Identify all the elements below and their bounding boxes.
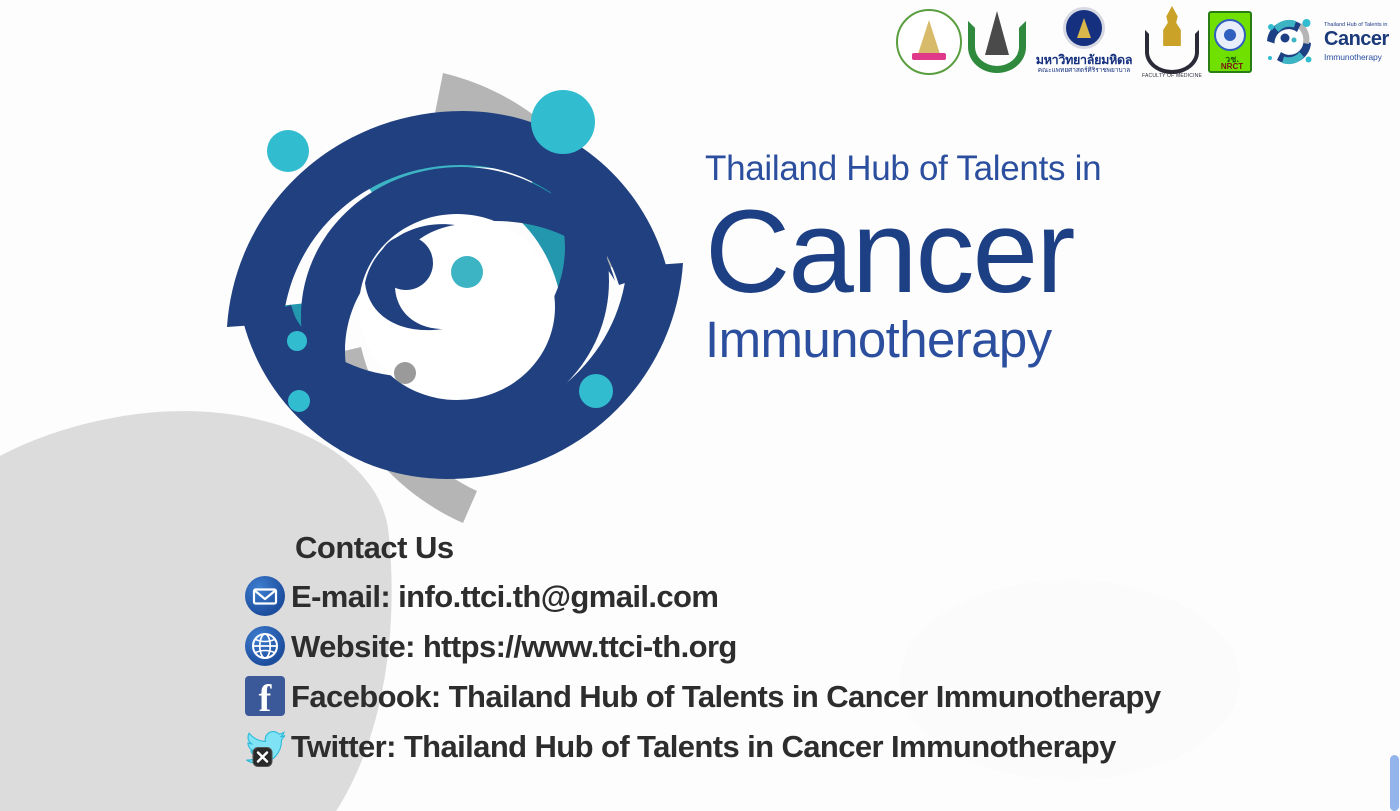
contact-block: Contact Us E-mail: info.ttci.th@gmail.co…	[245, 530, 1161, 772]
facebook-icon: f	[245, 676, 287, 718]
partner-logo-bar: มหาวิทยาลัยมหิดล คณะแพทยศาสตร์ศิริราชพยา…	[896, 4, 1396, 80]
globe-icon	[245, 626, 287, 668]
contact-title: Contact Us	[295, 530, 1161, 566]
logo-word-cancer: Cancer	[705, 193, 1175, 311]
ttci-small-word-main: Cancer	[1324, 29, 1389, 49]
faculty-arc-icon	[1145, 30, 1199, 74]
ttci-swirl-logo	[205, 55, 705, 535]
faculty-of-medicine-logo: FACULTY OF MEDICINE	[1142, 6, 1202, 78]
mahidol-university-logo: มหาวิทยาลัยมหิดล คณะแพทยศาสตร์ศิริราชพยา…	[1032, 7, 1136, 77]
vertical-scrollbar[interactable]	[1389, 0, 1400, 811]
contact-row-twitter[interactable]: Twitter: Thailand Hub of Talents in Canc…	[245, 722, 1161, 772]
contact-row-email[interactable]: E-mail: info.ttci.th@gmail.com	[245, 572, 1161, 622]
royal-institution-green-seal-icon	[896, 9, 962, 75]
contact-website-text: Website: https://www.ttci-th.org	[291, 629, 737, 665]
scrollbar-thumb[interactable]	[1390, 755, 1399, 811]
nrct-label-en: NRCT	[1210, 62, 1254, 71]
slide-canvas: มหาวิทยาลัยมหิดล คณะแพทยศาสตร์ศิริราชพยา…	[0, 0, 1400, 811]
ttci-small-swirl-icon	[1258, 12, 1320, 72]
ttci-small-word-sub: Immunotherapy	[1324, 52, 1382, 62]
mahidol-subtitle-th: คณะแพทยศาสตร์ศิริราชพยาบาล	[1032, 65, 1136, 75]
green-pagoda-shield-seal-icon	[968, 9, 1026, 75]
nrct-logo: วช. NRCT	[1208, 11, 1252, 73]
contact-row-facebook[interactable]: f Facebook: Thailand Hub of Talents in C…	[245, 672, 1161, 722]
logo-word-immunotherapy: Immunotherapy	[705, 313, 1175, 367]
contact-facebook-text: Facebook: Thailand Hub of Talents in Can…	[291, 679, 1161, 715]
nrct-gear-icon	[1214, 19, 1246, 51]
contact-row-website[interactable]: Website: https://www.ttci-th.org	[245, 622, 1161, 672]
faculty-caption: FACULTY OF MEDICINE	[1142, 73, 1202, 79]
contact-email-text: E-mail: info.ttci.th@gmail.com	[291, 579, 718, 615]
mahidol-emblem-icon	[1063, 7, 1105, 49]
envelope-icon	[245, 576, 287, 618]
logo-tagline: Thailand Hub of Talents in	[705, 150, 1175, 189]
ttci-small-logo: Thailand Hub of Talents in Cancer Immuno…	[1258, 10, 1396, 74]
twitter-x-icon	[245, 726, 287, 768]
logo-wordmark: Thailand Hub of Talents in Cancer Immuno…	[705, 150, 1175, 366]
contact-twitter-text: Twitter: Thailand Hub of Talents in Canc…	[291, 729, 1116, 765]
